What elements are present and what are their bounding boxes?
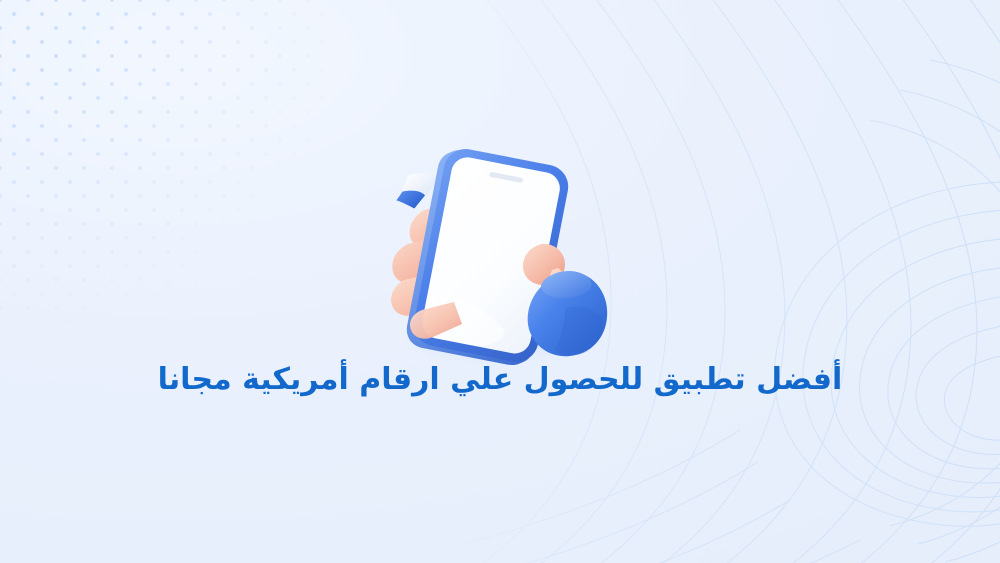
dot-grid-pattern bbox=[0, 0, 330, 330]
page-title: أفضل تطبيق للحصول علي ارقام أمريكية مجان… bbox=[158, 362, 843, 398]
banner-canvas: أفضل تطبيق للحصول علي ارقام أمريكية مجان… bbox=[0, 0, 1000, 563]
hand-holding-smartphone-illustration bbox=[366, 158, 614, 363]
headline-container: أفضل تطبيق للحصول علي ارقام أمريكية مجان… bbox=[0, 362, 1000, 398]
